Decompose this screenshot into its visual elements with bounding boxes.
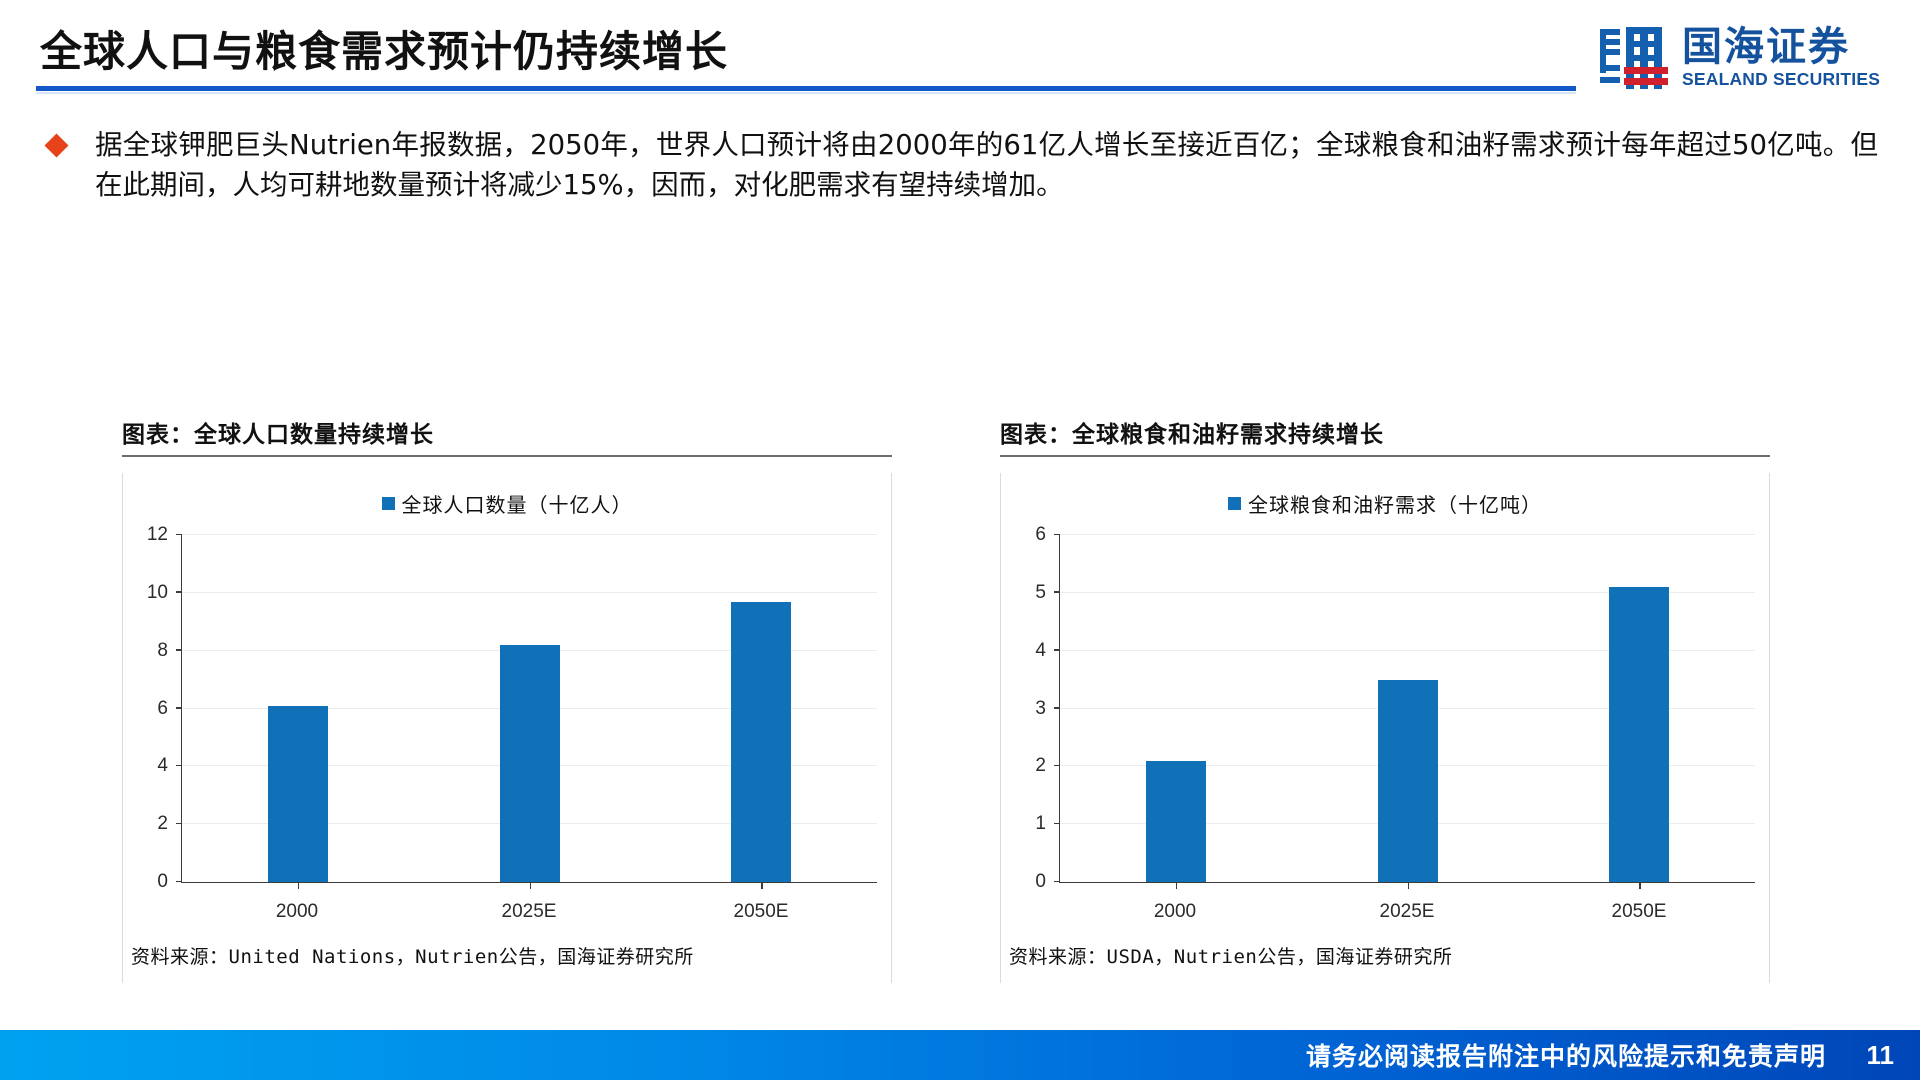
chart-plot-area: 0123456 20002025E2050E [1059, 535, 1755, 883]
chart-panel-title-divider [122, 455, 892, 457]
x-axis-tick-label: 2025E [413, 901, 645, 923]
x-axis-tick-label: 2000 [181, 901, 413, 923]
chart-plot-area: 024681012 20002025E2050E [181, 535, 877, 883]
bar-slot [182, 535, 414, 882]
page-title: 全球人口与粮食需求预计仍持续增长 [40, 18, 728, 79]
chart-container: 全球粮食和油籽需求（十亿吨） 0123456 20002025E2050E 资料… [1000, 473, 1770, 983]
y-axis-tick-label: 6 [1035, 524, 1046, 546]
x-axis-tick-label: 2000 [1059, 901, 1291, 923]
chart-panel-food-demand: 图表：全球粮食和油籽需求持续增长 全球粮食和油籽需求（十亿吨） 0123456 … [1000, 415, 1770, 983]
y-axis-tick-label: 6 [157, 698, 168, 720]
chart-container: 全球人口数量（十亿人） 024681012 20002025E2050E 资料来… [122, 473, 892, 983]
x-axis-tick-label: 2025E [1291, 901, 1523, 923]
bar-slot [645, 535, 877, 882]
y-axis-tick-label: 5 [1035, 582, 1046, 604]
legend-swatch-icon [382, 497, 395, 510]
title-divider-secondary [36, 92, 1576, 94]
y-axis-tick-label: 2 [157, 813, 168, 835]
chart-legend: 全球粮食和油籽需求（十亿吨） [1001, 489, 1769, 518]
x-axis-tick [530, 882, 532, 889]
x-axis-tick [298, 882, 300, 889]
sealand-wave-logo-icon [1598, 25, 1672, 91]
y-axis-tick-label: 8 [157, 640, 168, 662]
chart-source-note: 资料来源：United Nations，Nutrien公告，国海证券研究所 [131, 942, 694, 969]
x-axis-tick [1408, 882, 1410, 889]
y-axis-tick-label: 4 [157, 755, 168, 777]
chart-bar[interactable] [268, 706, 328, 882]
y-axis-tick-label: 12 [147, 524, 168, 546]
company-logo: 国海证券 SEALAND SECURITIES [1598, 22, 1898, 94]
y-axis-tick-label: 2 [1035, 755, 1046, 777]
chart-bar[interactable] [1609, 587, 1669, 882]
x-axis-tick-label: 2050E [645, 901, 877, 923]
chart-bars [1060, 535, 1755, 882]
slide-footer: 请务必阅读报告附注中的风险提示和免责声明 11 [0, 1030, 1920, 1080]
bar-slot [1060, 535, 1292, 882]
y-axis-tick-label: 0 [157, 871, 168, 893]
chart-legend: 全球人口数量（十亿人） [123, 489, 891, 518]
title-divider [36, 86, 1576, 91]
page-number: 11 [1860, 1040, 1894, 1071]
y-axis-tick-label: 4 [1035, 640, 1046, 662]
y-axis-tick-label: 1 [1035, 813, 1046, 835]
bar-slot [1523, 535, 1755, 882]
bar-slot [414, 535, 646, 882]
bar-slot [1292, 535, 1524, 882]
chart-panel-title: 图表：全球粮食和油籽需求持续增长 [1000, 415, 1770, 449]
bullet-paragraph-text: 据全球钾肥巨头Nutrien年报数据，2050年，世界人口预计将由2000年的6… [95, 126, 1878, 206]
x-axis-tick [1639, 882, 1641, 889]
bullet-paragraph: 据全球钾肥巨头Nutrien年报数据，2050年，世界人口预计将由2000年的6… [48, 126, 1878, 206]
x-axis-tick-label: 2050E [1523, 901, 1755, 923]
chart-bar[interactable] [500, 645, 560, 882]
chart-source-note: 资料来源：USDA，Nutrien公告，国海证券研究所 [1009, 942, 1452, 969]
logo-english-name: SEALAND SECURITIES [1682, 71, 1880, 89]
legend-label: 全球粮食和油籽需求（十亿吨） [1248, 489, 1542, 518]
logo-chinese-name: 国海证券 [1682, 27, 1880, 67]
x-axis-tick [1176, 882, 1178, 889]
chart-bars [182, 535, 877, 882]
footer-disclaimer: 请务必阅读报告附注中的风险提示和免责声明 [1306, 1037, 1826, 1073]
legend-label: 全球人口数量（十亿人） [402, 489, 633, 518]
y-axis-tick-label: 3 [1035, 698, 1046, 720]
chart-panel-title: 图表：全球人口数量持续增长 [122, 415, 892, 449]
chart-panel-title-divider [1000, 455, 1770, 457]
diamond-bullet-icon [44, 133, 68, 157]
chart-bar[interactable] [1378, 680, 1438, 882]
x-axis-tick [761, 882, 763, 889]
chart-bar[interactable] [1146, 761, 1206, 882]
y-axis-tick-label: 10 [147, 582, 168, 604]
legend-swatch-icon [1228, 497, 1241, 510]
chart-bar[interactable] [731, 602, 791, 882]
y-axis-tick-label: 0 [1035, 871, 1046, 893]
chart-panel-population: 图表：全球人口数量持续增长 全球人口数量（十亿人） 024681012 2000… [122, 415, 892, 983]
